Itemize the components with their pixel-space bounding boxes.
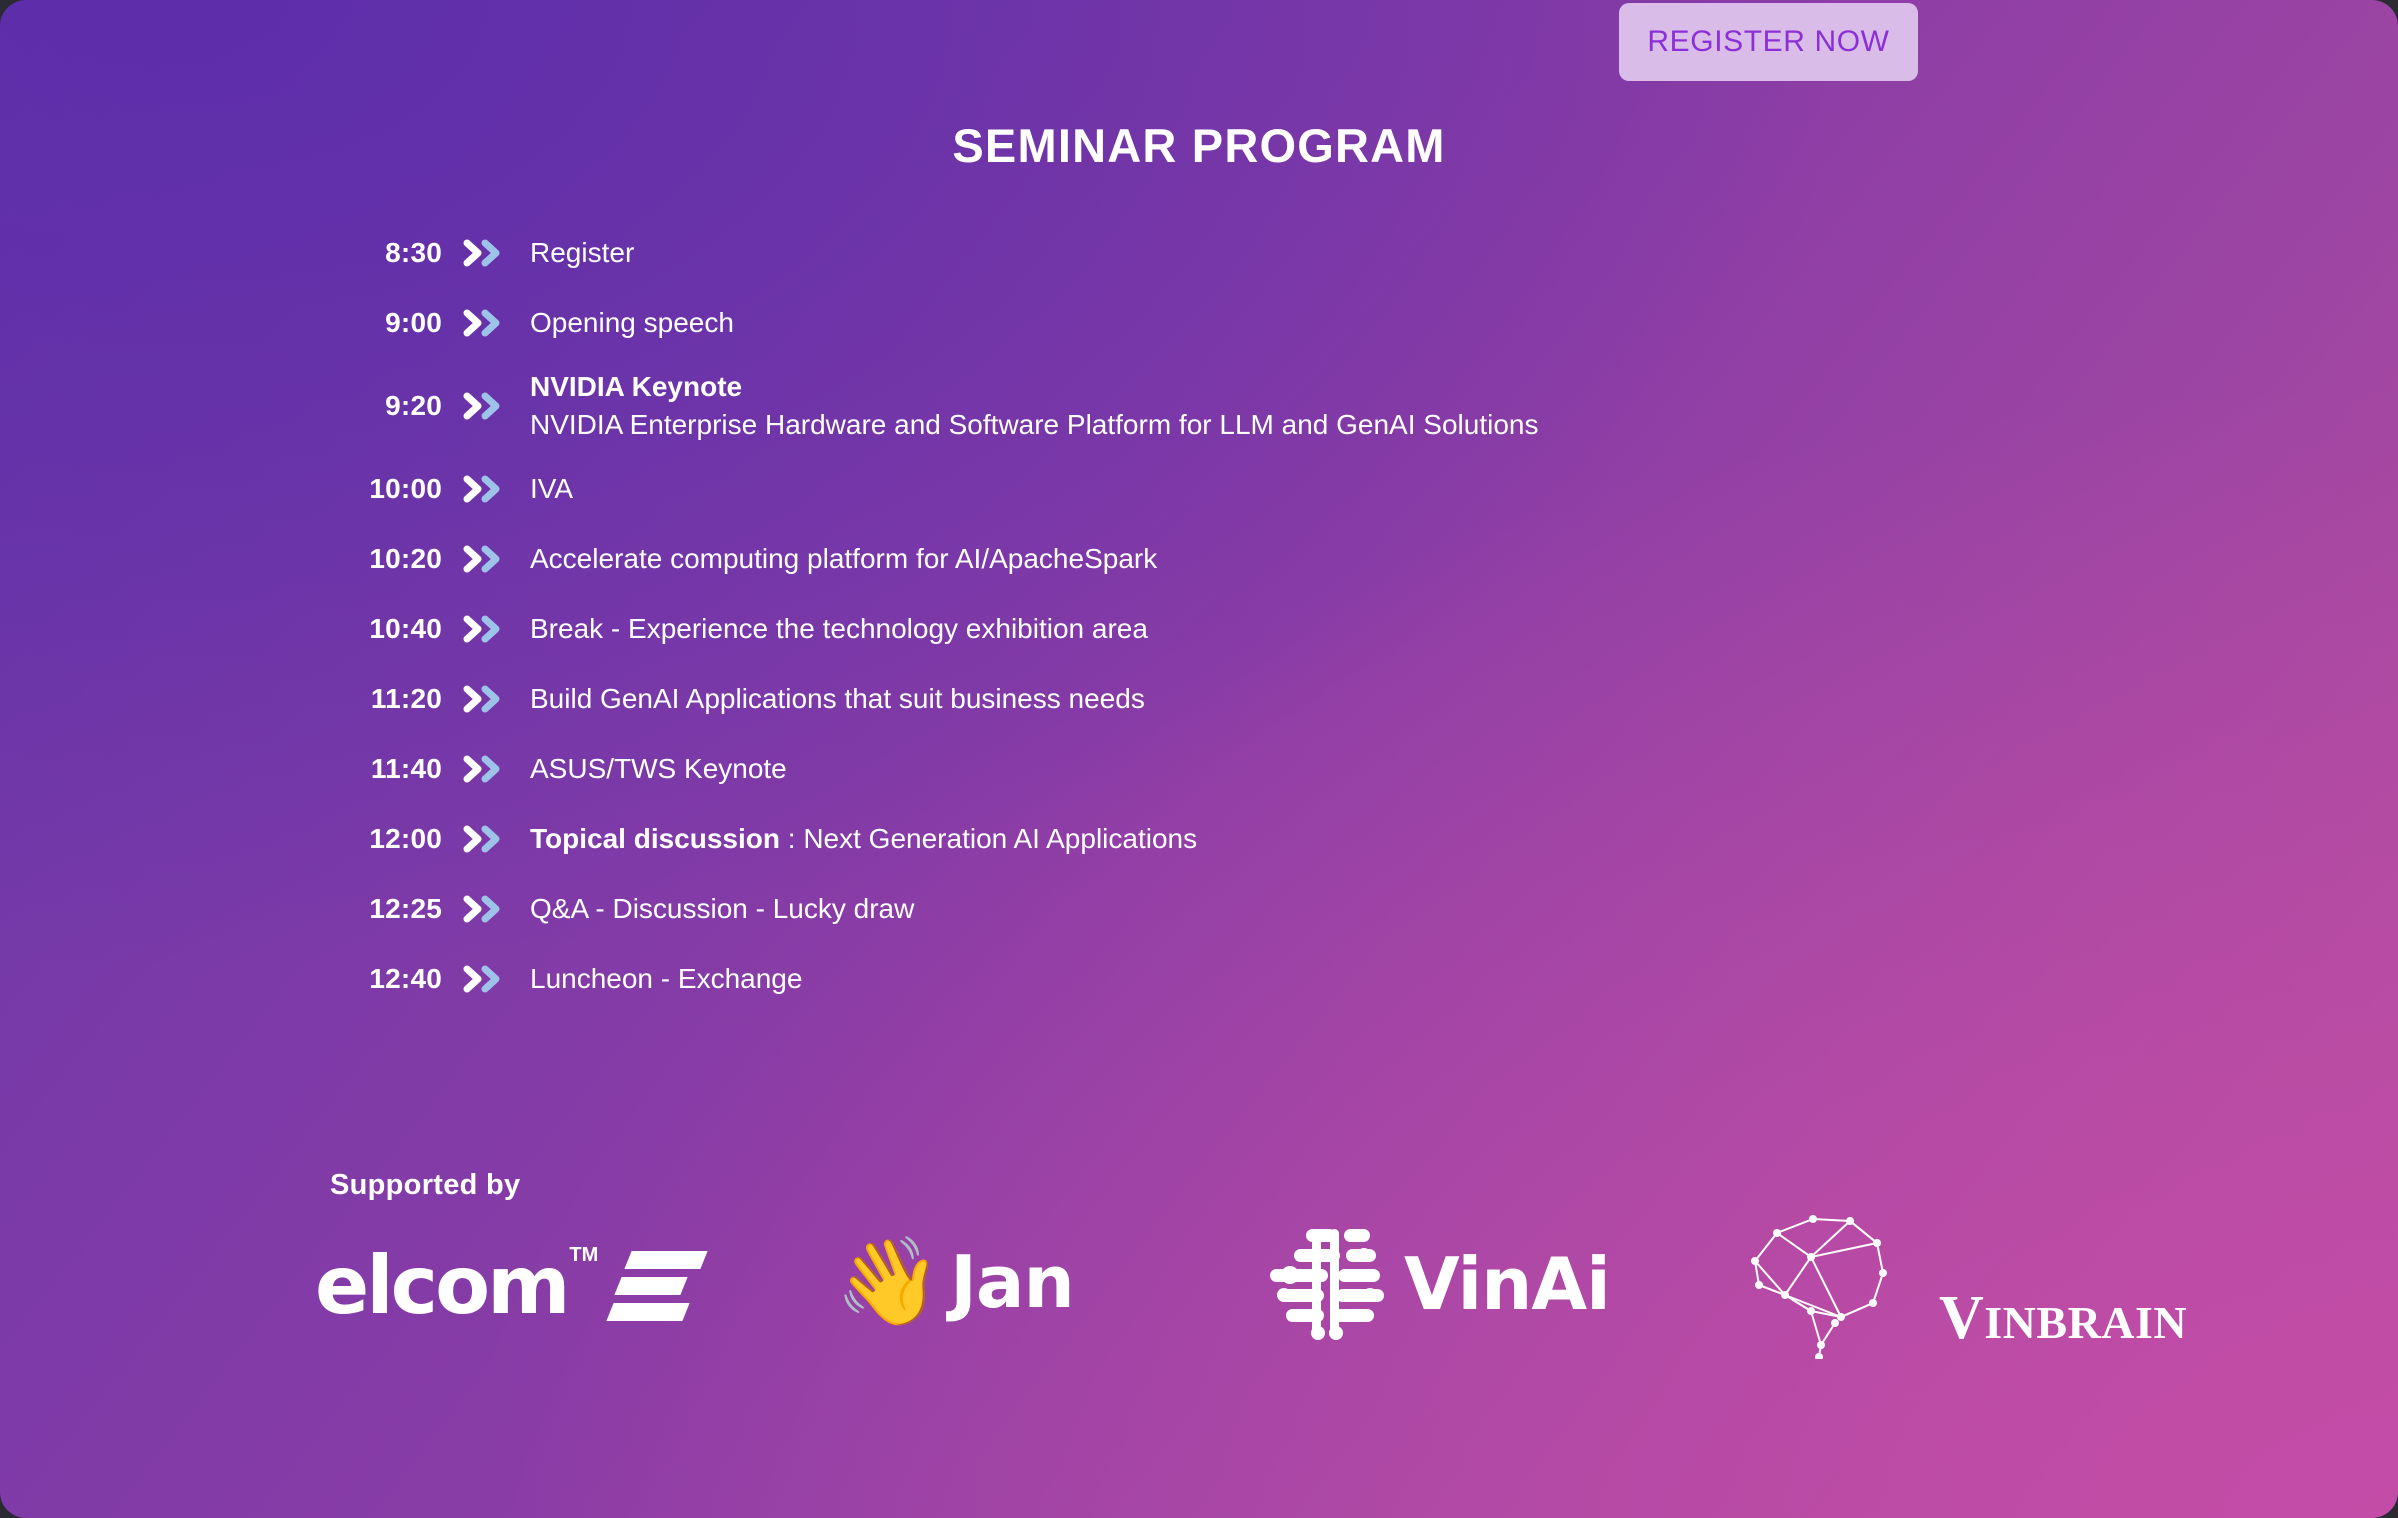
register-now-button[interactable]: REGISTER NOW [1619, 3, 1918, 81]
agenda-item-title: NVIDIA Keynote [530, 368, 2130, 406]
double-chevron-right-icon [442, 753, 508, 785]
agenda-time: 10:00 [330, 473, 442, 505]
double-chevron-right-icon [442, 237, 508, 269]
agenda-time: 10:20 [330, 543, 442, 575]
agenda-text: Luncheon - Exchange [508, 960, 2130, 998]
vinbrain-initial: V [1939, 1284, 1984, 1352]
double-chevron-right-icon [442, 543, 508, 575]
agenda-row: 10:40 Break - Experience the technology … [330, 594, 2130, 664]
sponsor-logo-vinai: VinAi [1260, 1224, 1610, 1344]
waving-hand-icon: 👋 [835, 1239, 942, 1325]
double-chevron-right-icon [442, 473, 508, 505]
agenda-text: IVA [508, 470, 2130, 508]
agenda-list: 8:30 Register 9:00 Opening speech 9:20 N… [330, 218, 2130, 1014]
elcom-tm-mark: TM [569, 1244, 598, 1267]
agenda-row: 12:00 Topical discussion : Next Generati… [330, 804, 2130, 874]
agenda-row: 10:00 IVA [330, 454, 2130, 524]
agenda-time: 8:30 [330, 237, 442, 269]
vinai-wordmark: VinAi [1404, 1242, 1610, 1326]
sponsor-logo-vinbrain: VINBRAIN [1715, 1204, 2187, 1364]
sponsor-logos: elcom TM 👋 Jan [300, 1222, 2200, 1362]
agenda-text: NVIDIA Keynote NVIDIA Enterprise Hardwar… [508, 368, 2130, 444]
agenda-text: Break - Experience the technology exhibi… [508, 610, 2130, 648]
agenda-row: 10:20 Accelerate computing platform for … [330, 524, 2130, 594]
agenda-time: 11:20 [330, 683, 442, 715]
double-chevron-right-icon [442, 683, 508, 715]
double-chevron-right-icon [442, 893, 508, 925]
agenda-text: ASUS/TWS Keynote [508, 750, 2130, 788]
agenda-text: Opening speech [508, 304, 2130, 342]
vinbrain-wordmark: VINBRAIN [1939, 1283, 2187, 1354]
agenda-text: Q&A - Discussion - Lucky draw [508, 890, 2130, 928]
double-chevron-right-icon [442, 613, 508, 645]
agenda-item-rest: : Next Generation AI Applications [780, 823, 1197, 854]
agenda-time: 12:25 [330, 893, 442, 925]
elcom-wordmark: elcom [315, 1250, 567, 1322]
agenda-text: Build GenAI Applications that suit busin… [508, 680, 2130, 718]
vinbrain-rest: INBRAIN [1984, 1297, 2187, 1348]
agenda-row: 9:00 Opening speech [330, 288, 2130, 358]
agenda-text: Accelerate computing platform for AI/Apa… [508, 540, 2130, 578]
agenda-time: 10:40 [330, 613, 442, 645]
page-title: SEMINAR PROGRAM [0, 118, 2398, 173]
agenda-row: 8:30 Register [330, 218, 2130, 288]
vinai-circuit-symbol-icon [1260, 1223, 1388, 1346]
sponsor-logo-jan: 👋 Jan [835, 1222, 1074, 1342]
agenda-time: 12:40 [330, 963, 442, 995]
agenda-time: 11:40 [330, 753, 442, 785]
sponsor-logo-elcom: elcom TM [315, 1226, 704, 1346]
agenda-row: 12:25 Q&A - Discussion - Lucky draw [330, 874, 2130, 944]
agenda-row: 11:40 ASUS/TWS Keynote [330, 734, 2130, 804]
agenda-row: 9:20 NVIDIA Keynote NVIDIA Enterprise Ha… [330, 358, 2130, 454]
agenda-row: 12:40 Luncheon - Exchange [330, 944, 2130, 1014]
jan-wordmark: Jan [950, 1240, 1074, 1324]
double-chevron-right-icon [442, 963, 508, 995]
agenda-item-bold-prefix: Topical discussion [530, 823, 780, 854]
agenda-time: 9:00 [330, 307, 442, 339]
agenda-item-subtitle: NVIDIA Enterprise Hardware and Software … [530, 406, 2130, 444]
seminar-program-page: REGISTER NOW SEMINAR PROGRAM 8:30 Regist… [0, 0, 2398, 1518]
agenda-time: 12:00 [330, 823, 442, 855]
agenda-text: Register [508, 234, 2130, 272]
elcom-e-symbol-icon [610, 1251, 704, 1321]
double-chevron-right-icon [442, 390, 508, 422]
double-chevron-right-icon [442, 307, 508, 339]
agenda-row: 11:20 Build GenAI Applications that suit… [330, 664, 2130, 734]
agenda-time: 9:20 [330, 390, 442, 422]
agenda-text: Topical discussion : Next Generation AI … [508, 820, 2130, 858]
double-chevron-right-icon [442, 823, 508, 855]
supported-by-label: Supported by [330, 1169, 521, 1202]
